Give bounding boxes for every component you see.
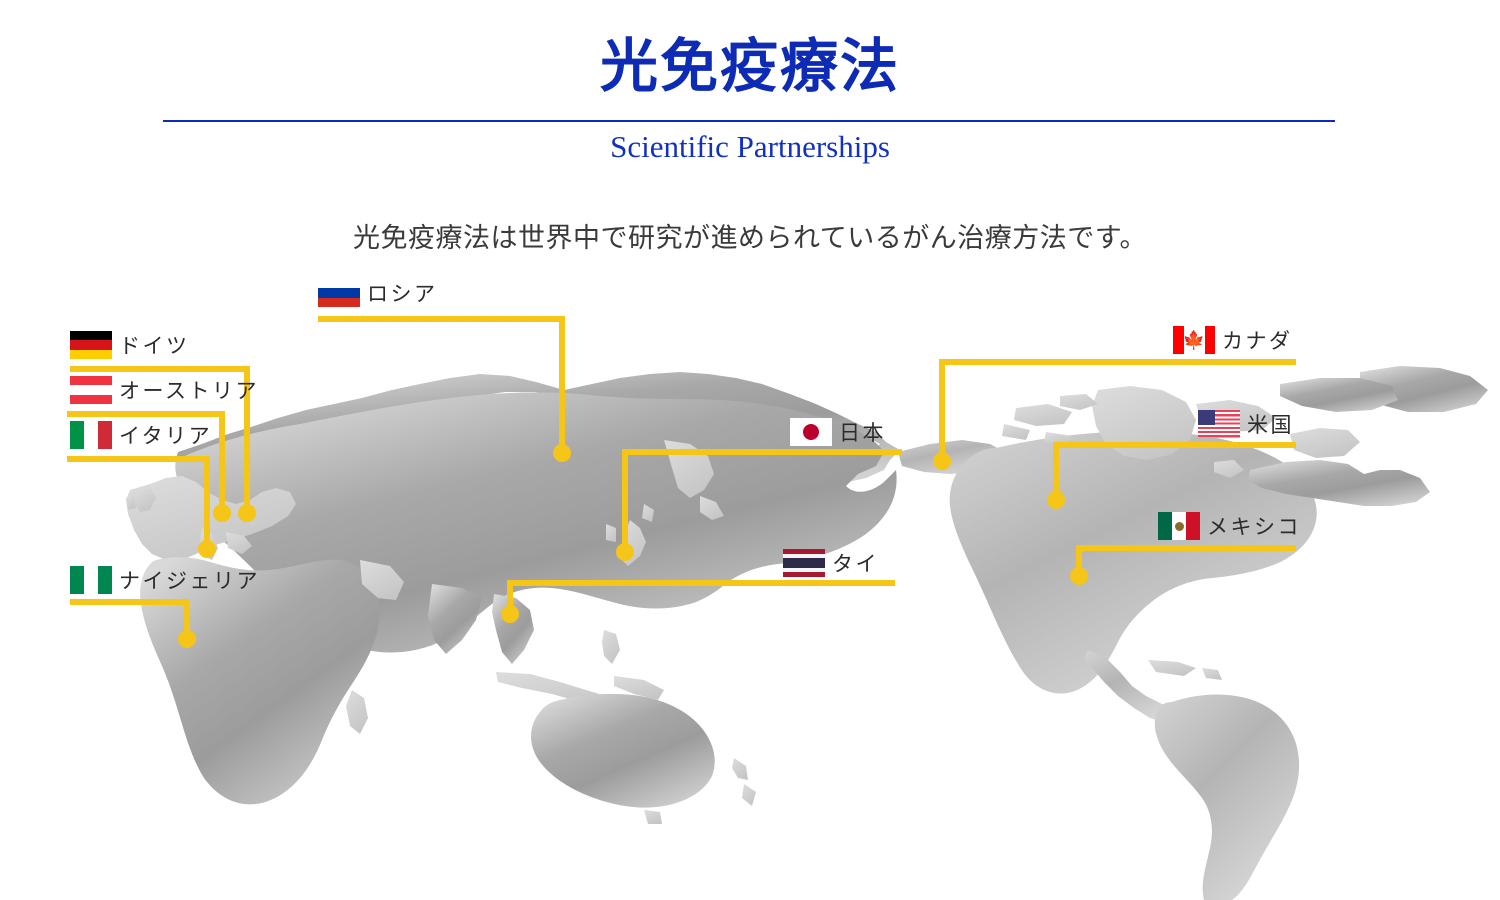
label-japan-text: 日本 (839, 417, 886, 447)
label-thailand-text: タイ (832, 548, 879, 578)
connector-thailand (510, 583, 895, 611)
canada-flag: 🍁 (1173, 326, 1215, 354)
label-usa-text: 米国 (1247, 409, 1294, 439)
label-thailand[interactable]: タイ (783, 548, 879, 578)
map-dot-canada (933, 452, 951, 470)
slide-canvas: 光免疫療法 Scientific Partnerships 光免疫療法は世界中で… (0, 0, 1500, 900)
maple-leaf-icon: 🍁 (1183, 331, 1205, 349)
austria-flag (70, 376, 112, 404)
label-japan[interactable]: 日本 (790, 417, 886, 447)
usa-flag (1198, 410, 1240, 438)
map-dot-usa (1047, 491, 1065, 509)
map-dot-nigeria (178, 630, 196, 648)
label-nigeria[interactable]: ナイジェリア (70, 565, 260, 595)
connector-japan (625, 452, 902, 549)
map-dot-germany (238, 504, 256, 522)
connector-russia (318, 319, 562, 450)
label-canada[interactable]: 🍁 カナダ (1173, 325, 1293, 355)
germany-flag (70, 331, 112, 359)
connector-nigeria (70, 602, 187, 636)
map-dot-mexico (1070, 567, 1088, 585)
map-dot-japan (616, 543, 634, 561)
label-germany[interactable]: ドイツ (70, 330, 190, 360)
map-dot-italy (198, 540, 216, 558)
label-italy[interactable]: イタリア (70, 420, 212, 450)
map-dot-thailand (501, 605, 519, 623)
label-russia-text: ロシア (367, 278, 438, 308)
label-nigeria-text: ナイジェリア (119, 565, 260, 595)
label-mexico-text: メキシコ (1207, 511, 1301, 541)
label-mexico[interactable]: メキシコ (1158, 511, 1301, 541)
map-dot-russia (553, 444, 571, 462)
label-germany-text: ドイツ (119, 330, 190, 360)
label-italy-text: イタリア (119, 420, 212, 450)
connector-mexico (1079, 548, 1296, 573)
label-canada-text: カナダ (1222, 325, 1293, 355)
japan-flag (790, 418, 832, 446)
map-dot-austria (213, 504, 231, 522)
russia-flag (318, 279, 360, 307)
nigeria-flag (70, 566, 112, 594)
label-austria-text: オーストリア (119, 375, 259, 405)
thailand-flag (783, 549, 825, 577)
label-usa[interactable]: 米国 (1198, 409, 1294, 439)
connector-lines (0, 0, 1500, 900)
mexico-flag (1158, 512, 1200, 540)
connector-italy (67, 459, 207, 546)
label-russia[interactable]: ロシア (318, 278, 438, 308)
connector-usa (1056, 445, 1296, 497)
italy-flag (70, 421, 112, 449)
label-austria[interactable]: オーストリア (70, 375, 259, 405)
